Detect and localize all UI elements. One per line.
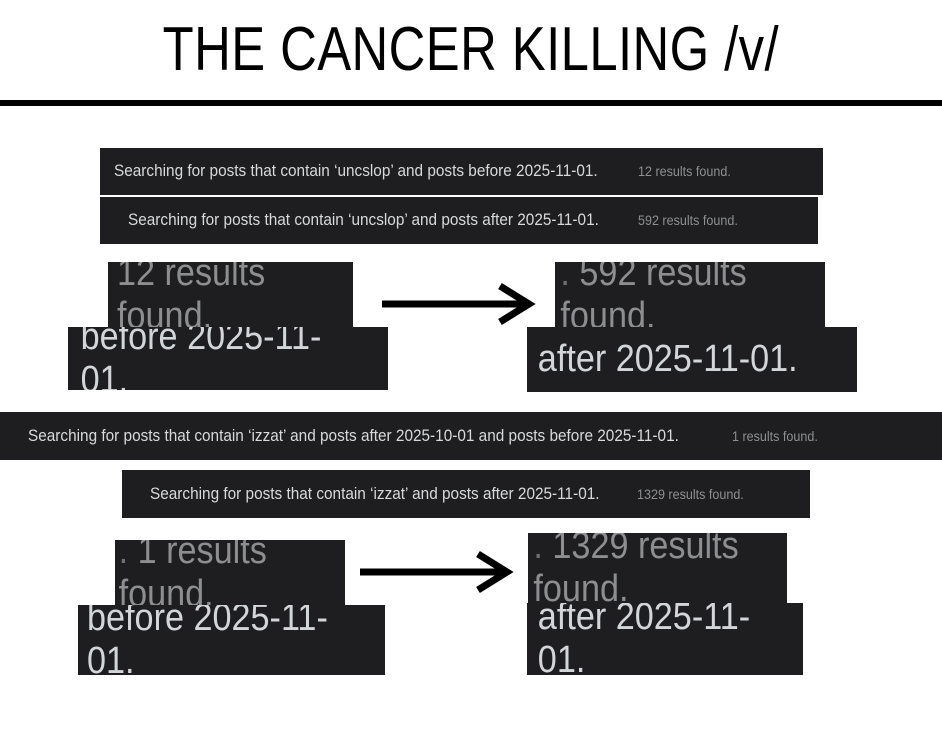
zoom-izzat-left-result: . 1 results found.	[115, 540, 345, 605]
zoom-uncslop-left-clause: before 2025-11-01.	[68, 327, 388, 390]
zoom-result-text: 1329 results found.	[533, 533, 738, 603]
log-query-text: Searching for posts that contain ‘uncslo…	[114, 162, 598, 181]
log-row-izzat-after: Searching for posts that contain ‘izzat’…	[122, 470, 810, 518]
page-title: THE CANCER KILLING /v/	[163, 19, 779, 81]
log-query-text: Searching for posts that contain ‘izzat’…	[150, 485, 600, 504]
log-result-text: 592 results found.	[638, 213, 738, 228]
log-query-text: Searching for posts that contain ‘uncslo…	[128, 211, 599, 230]
title-divider-rule	[0, 100, 942, 106]
zoom-clause-text: after 2025-11-01.	[527, 603, 775, 675]
zoom-result-text: 1 results found.	[119, 540, 267, 605]
zoom-lead-period: .	[560, 262, 570, 294]
arrow-right-icon	[380, 283, 540, 325]
zoom-izzat-right-result: . 1329 results found.	[528, 533, 787, 603]
zoom-lead-period: .	[533, 533, 543, 567]
zoom-izzat-left-clause: before 2025-11-01.	[78, 605, 385, 675]
log-row-uncslop-before: Searching for posts that contain ‘uncslo…	[100, 148, 823, 195]
log-query-text: Searching for posts that contain ‘izzat’…	[28, 427, 679, 446]
zoom-uncslop-right-result: . 592 results found.	[555, 262, 825, 327]
zoom-uncslop-left-result: 12 results found.	[108, 262, 353, 327]
log-result-text: 1329 results found.	[637, 487, 744, 502]
zoom-lead-period: .	[119, 540, 129, 572]
zoom-uncslop-right-clause: after 2025-11-01.	[527, 327, 857, 392]
log-result-text: 12 results found.	[638, 164, 731, 179]
zoom-clause-text: before 2025-11-01.	[68, 327, 356, 390]
zoom-clause-text: after 2025-11-01.	[527, 338, 798, 381]
log-row-izzat-between: Searching for posts that contain ‘izzat’…	[0, 412, 942, 460]
zoom-result-text: 12 results found.	[108, 262, 329, 327]
log-result-text: 1 results found.	[732, 429, 818, 444]
arrow-right-icon	[358, 551, 518, 593]
page-title-bar: THE CANCER KILLING /v/	[0, 0, 942, 100]
zoom-izzat-right-clause: after 2025-11-01.	[527, 603, 803, 675]
log-row-uncslop-after: Searching for posts that contain ‘uncslo…	[100, 197, 818, 244]
zoom-result-text: 592 results found.	[560, 262, 746, 327]
zoom-clause-text: before 2025-11-01.	[78, 605, 354, 675]
